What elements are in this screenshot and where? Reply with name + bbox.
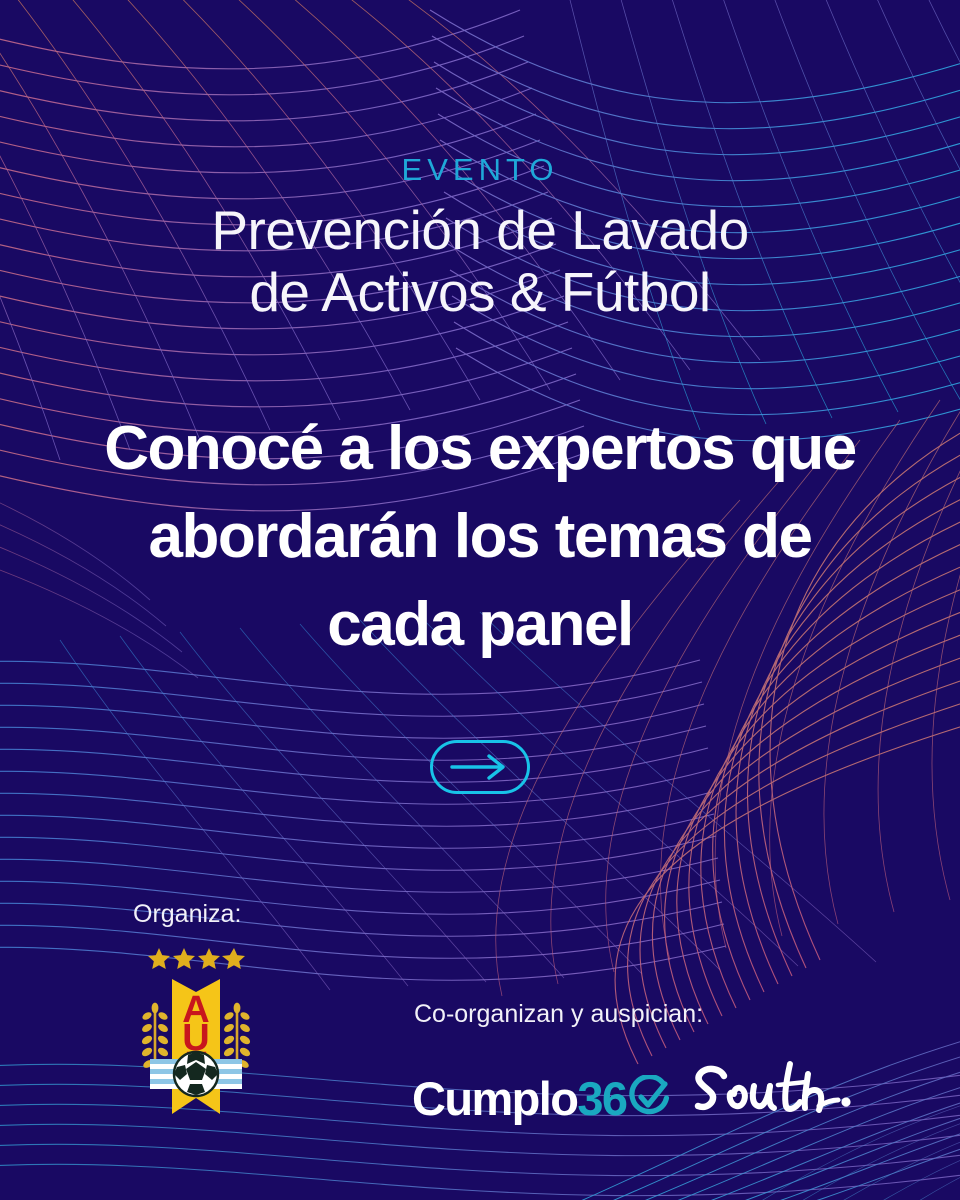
event-poster: EVENTO Prevención de Lavado de Activos &… xyxy=(0,0,960,1200)
next-slide-button[interactable] xyxy=(430,740,530,794)
auf-stars xyxy=(148,948,245,969)
arrow-right-icon xyxy=(449,754,511,780)
headline-line-2: abordarán los temas de xyxy=(60,493,900,581)
coorganizan-label: Co-organizan y auspician: xyxy=(414,1000,703,1029)
cumplo360-logo: Cumplo 36 xyxy=(412,1070,671,1126)
check-circle-icon xyxy=(627,1075,671,1121)
soccer-ball-icon xyxy=(174,1052,218,1096)
event-title: Prevención de Lavado de Activos & Fútbol xyxy=(0,200,960,323)
page-headline: Conocé a los expertos que abordarán los … xyxy=(60,405,900,669)
event-eyebrow-label: EVENTO xyxy=(0,152,960,188)
headline-line-3: cada panel xyxy=(60,581,900,669)
cumplo360-word-secondary: 36 xyxy=(577,1075,626,1122)
auf-logo: A U F xyxy=(128,946,264,1126)
event-title-line-2: de Activos & Fútbol xyxy=(0,262,960,324)
south-logo xyxy=(686,1058,856,1132)
organiza-label: Organiza: xyxy=(133,900,241,929)
cumplo360-word-primary: Cumplo xyxy=(412,1075,577,1122)
south-logo-dot xyxy=(841,1097,850,1106)
headline-line-1: Conocé a los expertos que xyxy=(60,405,900,493)
event-title-line-1: Prevención de Lavado xyxy=(211,199,748,261)
